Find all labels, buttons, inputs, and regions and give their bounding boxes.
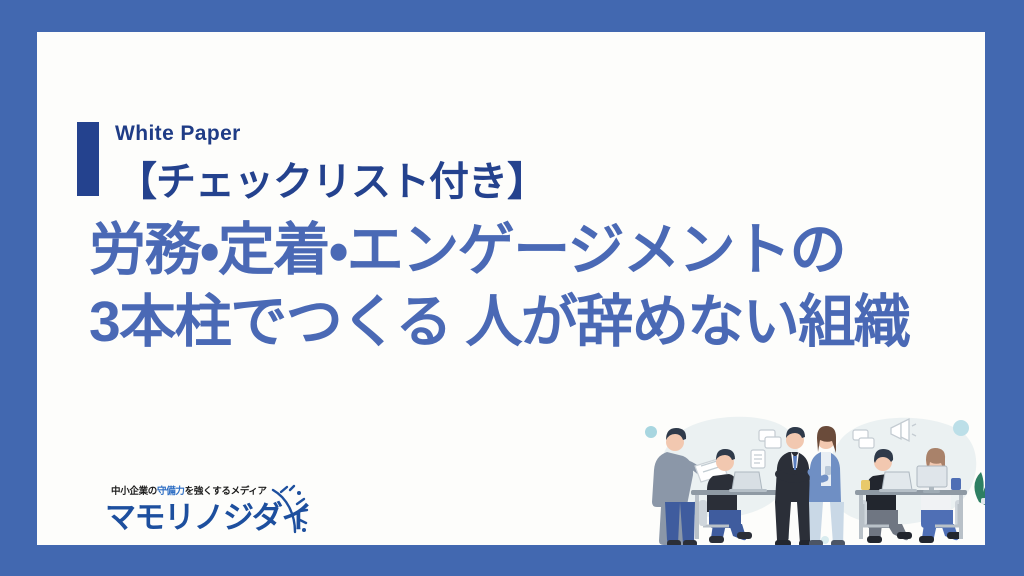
accent-bar xyxy=(77,122,99,196)
headline-line-1: 労務・定着・エンゲージメントの xyxy=(89,214,985,286)
subhead-bracket-label: 【チェックリスト付き】 xyxy=(117,156,546,208)
logo-tagline: 中小企業の守備力を強くするメディア xyxy=(111,486,267,498)
office-team-illustration xyxy=(629,404,985,545)
logo-tagline-highlight: 守備力 xyxy=(157,486,185,497)
logo-tagline-before: 中小企業の xyxy=(111,486,157,497)
page-title: 労務・定着・エンゲージメントの 3本柱でつくる 人が辞めない組織 xyxy=(89,214,985,358)
brand-logo: 中小企業の守備力を強くするメディア マモリノジダイ xyxy=(97,484,302,540)
logo-tagline-after: を強くするメディア xyxy=(185,486,267,497)
eyebrow-label: White Paper xyxy=(115,120,241,148)
shield-burst-mark-icon xyxy=(257,484,313,538)
cover-card: White Paper 【チェックリスト付き】 労務・定着・エンゲージメントの … xyxy=(37,32,985,545)
headline-line-2: 3本柱でつくる 人が辞めない組織 xyxy=(89,286,985,358)
slide-canvas: White Paper 【チェックリスト付き】 労務・定着・エンゲージメントの … xyxy=(0,0,1024,576)
